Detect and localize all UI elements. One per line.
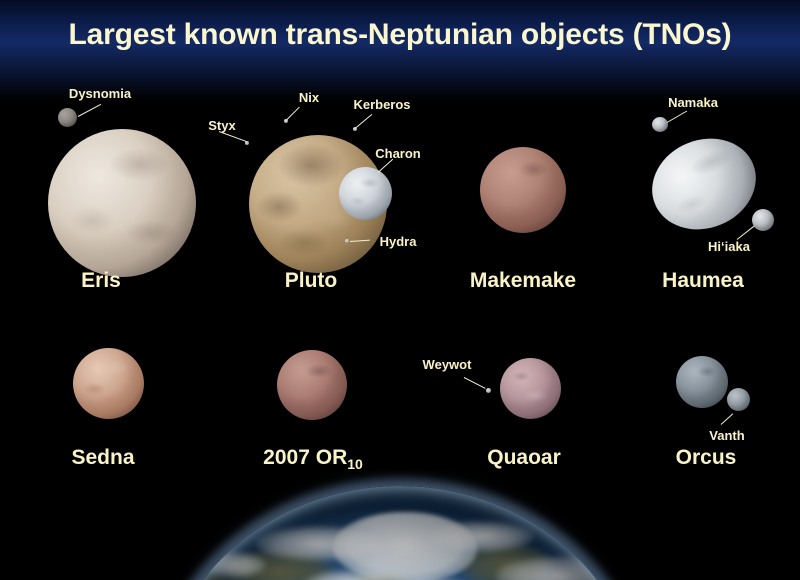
leader-line-hiiaka	[737, 226, 755, 240]
moon-label-weywot: Weywot	[423, 357, 472, 372]
planet-eris	[48, 129, 196, 277]
moon-label-hydra: Hydra	[380, 234, 417, 249]
body-label-quaoar: Quaoar	[487, 446, 561, 470]
body-label-orcus: Orcus	[676, 446, 737, 470]
orcus-surface-texture	[676, 356, 728, 408]
or10-label-main: 2007 OR	[263, 446, 347, 469]
moon-label-vanth: Vanth	[709, 428, 744, 443]
moon-label-namaka: Namaka	[668, 95, 718, 110]
body-label-2007-or10: 2007 OR10	[263, 446, 363, 472]
planet-earth	[160, 486, 640, 580]
charon-surface-texture	[339, 167, 392, 220]
planet-quaoar	[500, 358, 561, 419]
planet-orcus	[676, 356, 728, 408]
or10-surface-texture	[277, 350, 347, 420]
eris-surface-texture	[48, 129, 196, 277]
leader-line-kerberos	[355, 114, 372, 129]
leader-line-nix	[286, 107, 300, 121]
moon-namaka	[652, 117, 668, 132]
tno-size-comparison-poster: Largest known trans-Neptunian objects (T…	[0, 0, 800, 580]
moon-label-hiiaka: Hi‘iaka	[708, 239, 750, 254]
makemake-surface-texture	[480, 147, 566, 233]
body-label-haumea: Haumea	[662, 269, 744, 293]
moon-label-charon: Charon	[375, 146, 421, 161]
moon-vanth	[727, 388, 750, 411]
moon-label-kerberos: Kerberos	[353, 97, 410, 112]
moon-dysnomia	[58, 108, 77, 127]
leader-line-vanth	[721, 413, 734, 424]
leader-line-dysnomia	[78, 104, 101, 117]
moon-weywot	[486, 388, 491, 393]
moon-label-styx: Styx	[208, 118, 235, 133]
page-title: Largest known trans-Neptunian objects (T…	[0, 18, 800, 52]
moon-hiiaka	[752, 209, 774, 231]
body-label-sedna: Sedna	[71, 446, 134, 470]
planet-2007-or10	[277, 350, 347, 420]
moon-label-nix: Nix	[299, 90, 319, 105]
body-label-eris: Eris	[81, 269, 121, 293]
moon-label-dysnomia: Dysnomia	[69, 86, 131, 101]
leader-line-weywot	[464, 377, 486, 389]
moon-charon	[339, 167, 392, 220]
quaoar-surface-texture	[500, 358, 561, 419]
leader-line-namaka	[667, 111, 687, 123]
planet-haumea	[638, 123, 769, 244]
planet-sedna	[73, 348, 144, 419]
planet-makemake	[480, 147, 566, 233]
moon-hydra	[345, 239, 349, 243]
sedna-surface-texture	[73, 348, 144, 419]
body-label-pluto: Pluto	[285, 269, 338, 293]
earth-limb-region	[0, 470, 800, 580]
body-label-makemake: Makemake	[470, 269, 576, 293]
haumea-surface-texture	[638, 123, 769, 244]
